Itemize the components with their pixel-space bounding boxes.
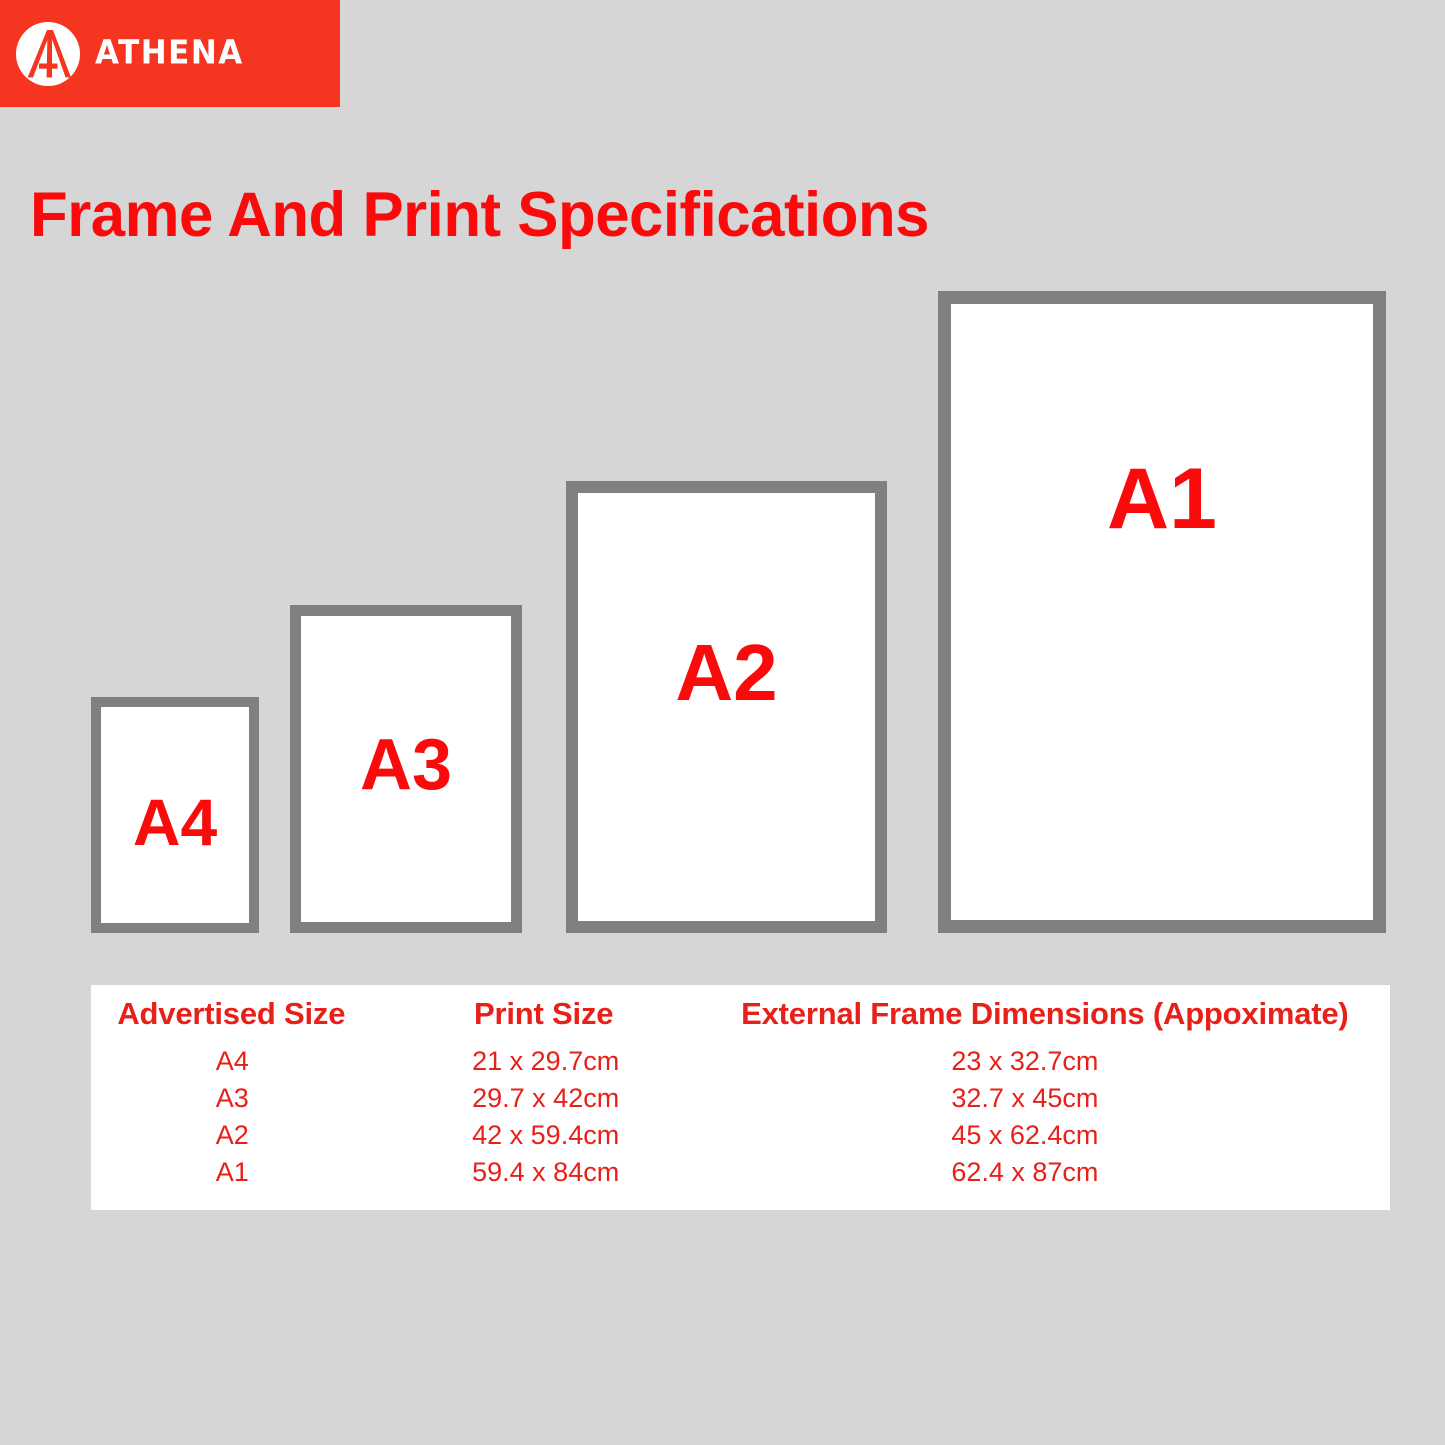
table-row: A1 59.4 x 84cm 62.4 x 87cm bbox=[91, 1154, 1390, 1191]
cell-print-size: 59.4 x 84cm bbox=[396, 1154, 706, 1191]
page-title: Frame And Print Specifications bbox=[30, 179, 929, 251]
frame-preview-a2: A2 bbox=[566, 481, 887, 933]
cell-external-frame: 62.4 x 87cm bbox=[706, 1154, 1390, 1191]
brand-name: ATHENA bbox=[95, 37, 244, 70]
cell-print-size: 21 x 29.7cm bbox=[396, 1043, 706, 1080]
table-row: A3 29.7 x 42cm 32.7 x 45cm bbox=[91, 1080, 1390, 1117]
cell-advertised-size: A2 bbox=[91, 1117, 396, 1154]
frame-preview-a1: A1 bbox=[938, 291, 1386, 933]
table-row: A2 42 x 59.4cm 45 x 62.4cm bbox=[91, 1117, 1390, 1154]
column-header-external-frame: External Frame Dimensions (Appoximate) bbox=[706, 985, 1390, 1043]
cell-advertised-size: A4 bbox=[91, 1043, 396, 1080]
frame-label-a1: A1 bbox=[951, 456, 1373, 542]
table-header-row: Advertised Size Print Size External Fram… bbox=[91, 985, 1390, 1043]
cell-print-size: 29.7 x 42cm bbox=[396, 1080, 706, 1117]
column-header-advertised-size: Advertised Size bbox=[91, 985, 396, 1043]
frame-label-a4: A4 bbox=[101, 789, 249, 855]
specification-table: Advertised Size Print Size External Fram… bbox=[91, 985, 1390, 1210]
cell-advertised-size: A3 bbox=[91, 1080, 396, 1117]
cell-print-size: 42 x 59.4cm bbox=[396, 1117, 706, 1154]
brand-bar: ATHENA bbox=[0, 0, 340, 107]
frame-preview-a4: A4 bbox=[91, 697, 259, 933]
table-row: A4 21 x 29.7cm 23 x 32.7cm bbox=[91, 1043, 1390, 1080]
cell-external-frame: 23 x 32.7cm bbox=[706, 1043, 1390, 1080]
athena-a-monogram-icon bbox=[14, 20, 82, 88]
frame-label-a2: A2 bbox=[578, 633, 875, 713]
frame-preview-a3: A3 bbox=[290, 605, 522, 933]
cell-advertised-size: A1 bbox=[91, 1154, 396, 1191]
cell-external-frame: 32.7 x 45cm bbox=[706, 1080, 1390, 1117]
cell-external-frame: 45 x 62.4cm bbox=[706, 1117, 1390, 1154]
frame-label-a3: A3 bbox=[301, 729, 511, 801]
column-header-print-size: Print Size bbox=[396, 985, 706, 1043]
